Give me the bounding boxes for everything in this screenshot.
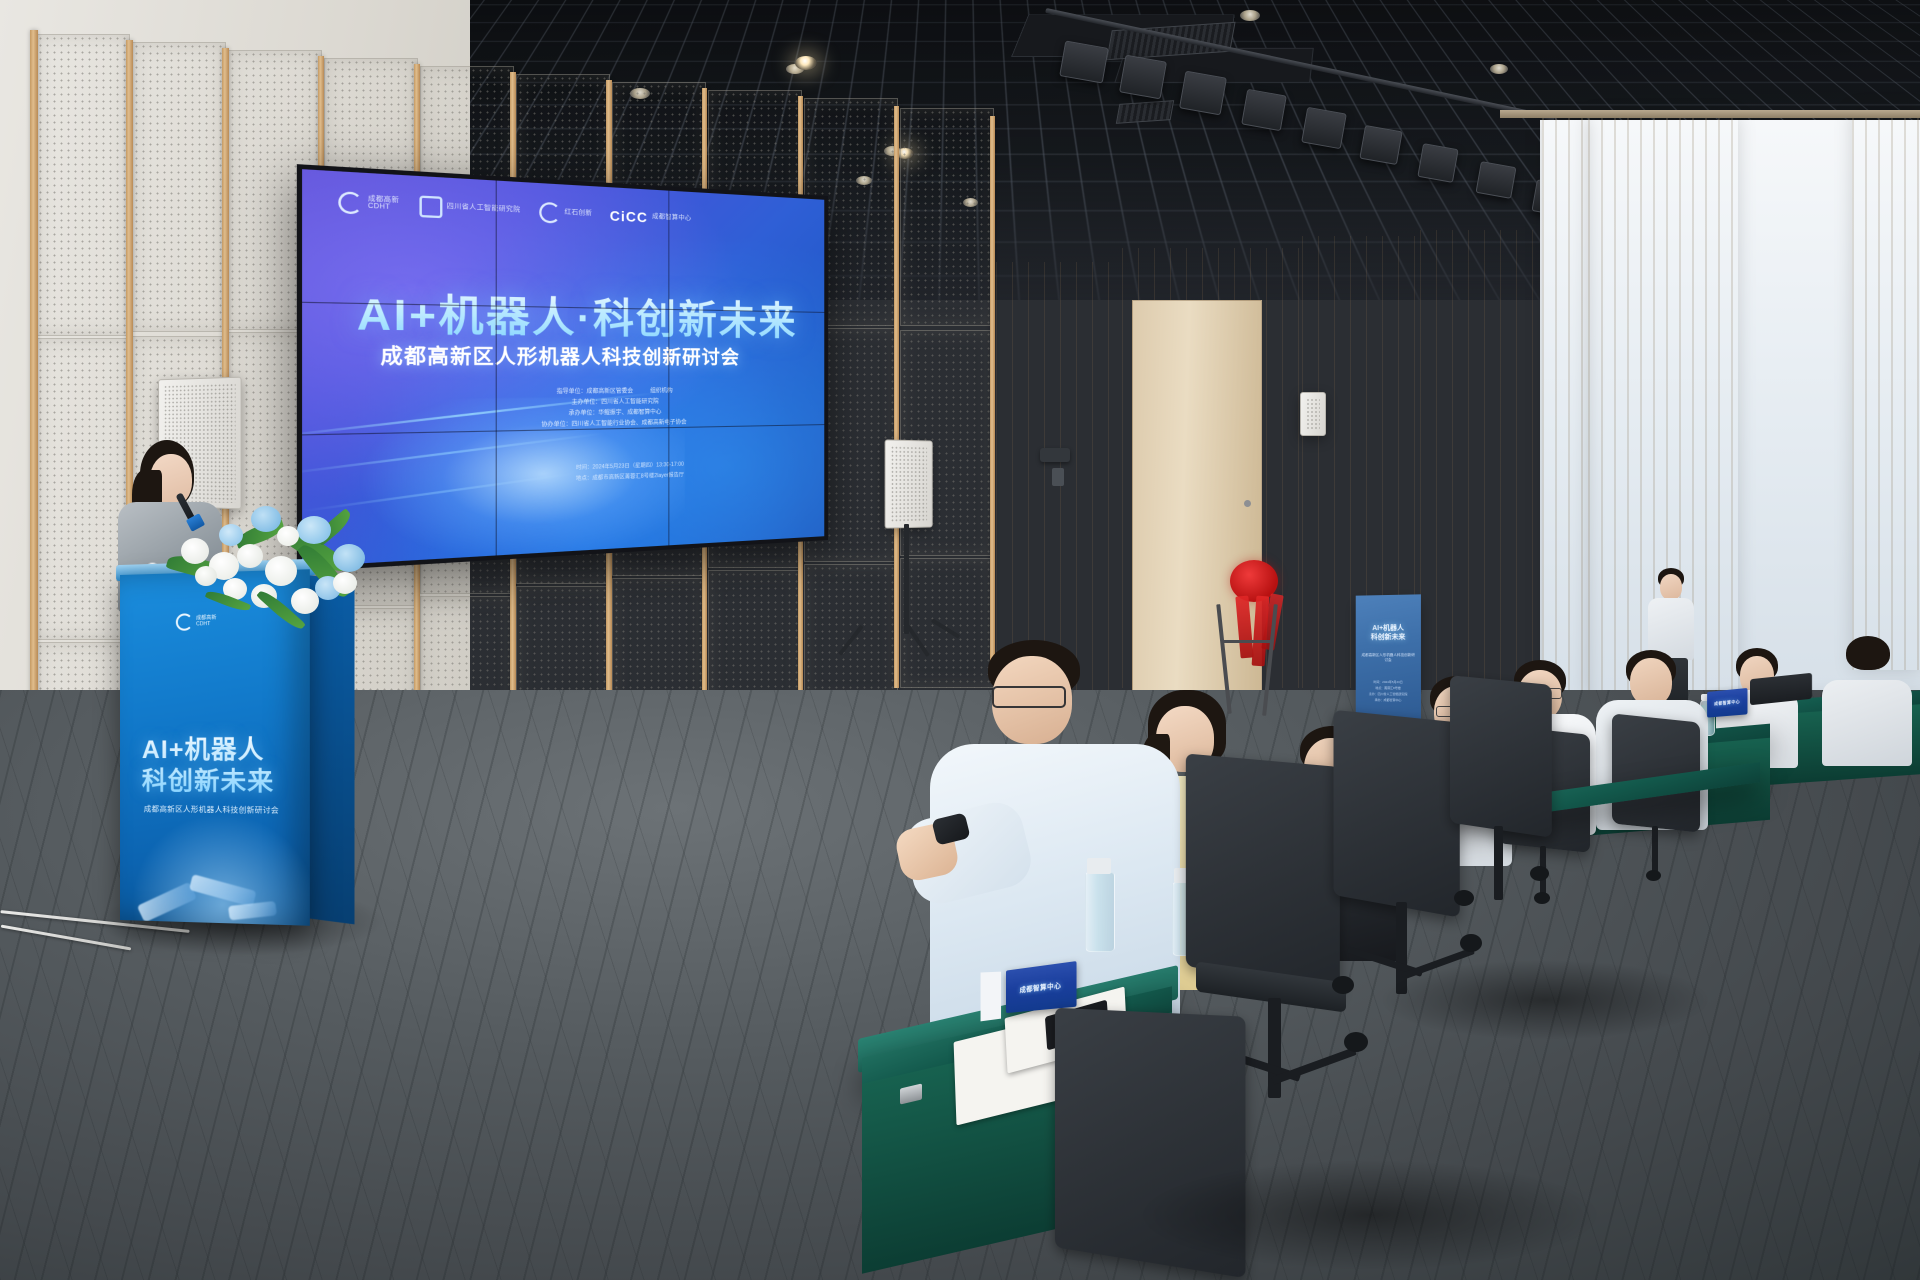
chair-front-2[interactable]	[1334, 710, 1460, 918]
spotlight-main	[795, 56, 817, 70]
wall-sensor-icon	[1052, 468, 1064, 486]
cdht-logo: 成都高新 CDHT	[339, 191, 400, 216]
podium-title-line2: 科创新未来	[142, 766, 310, 799]
ribbon-tail	[1235, 596, 1253, 659]
wall-camera	[1040, 448, 1070, 462]
flower-blue	[297, 516, 331, 544]
attendee-back-2	[1820, 636, 1915, 766]
robot-arm-shape	[228, 901, 277, 920]
partner-logo: 红石创新	[539, 202, 593, 225]
standee-caption: 成都高新区人形机器人科技创新研讨会	[1362, 653, 1415, 664]
wall-panel	[132, 42, 226, 332]
nameplate-front: 成都智算中心	[1006, 961, 1077, 1013]
speaker-grill	[891, 446, 928, 523]
chair-leg	[1494, 826, 1503, 900]
flower-white	[291, 588, 319, 614]
led-panel-seam	[669, 191, 670, 546]
stage-light-5	[1301, 107, 1347, 149]
flower-blue	[219, 524, 243, 546]
attendee-glasses-icon	[992, 686, 1066, 708]
curtain-left	[1542, 118, 1588, 718]
chair-wheel	[1530, 866, 1549, 881]
wall-accent-strip	[894, 106, 899, 688]
curtain-right	[1852, 110, 1920, 670]
podium-title-line1: AI+机器人	[142, 735, 310, 767]
flower-white	[265, 556, 297, 586]
partner-logo-text: 红石创新	[565, 210, 593, 219]
wall-panel	[804, 564, 898, 700]
stage-light-4	[1241, 89, 1287, 131]
nameplate-right: 成都智算中心	[1707, 688, 1747, 718]
robot-arm-shape	[137, 882, 197, 923]
chair-wheel	[1646, 870, 1661, 881]
conference-room-photo: 成都高新 CDHT 四川省人工智能研究院 红石创新 CiCC 成都智算中心 AI…	[0, 0, 1920, 1280]
wall-panel	[36, 34, 130, 336]
stage-light-7	[1417, 143, 1458, 183]
flower-blue	[333, 544, 365, 572]
led-guidance-label: 指导单位：成都高新区管委会	[557, 386, 634, 397]
attendee-shirt	[1822, 680, 1912, 766]
standee-title-line2: 科创新未来	[1362, 634, 1415, 643]
chair-leg	[1652, 826, 1658, 874]
stage-light-1	[1059, 40, 1109, 83]
cicc-logo: CiCC 成都智算中心	[610, 207, 692, 227]
cdht-logo-line2: CDHT	[368, 204, 390, 212]
chair-wheel	[1344, 1032, 1368, 1052]
flower-white	[277, 526, 299, 546]
flower-white	[333, 572, 357, 594]
stage-light-2	[1119, 55, 1167, 100]
pa-speaker-right	[885, 439, 933, 528]
attendee-head	[1630, 658, 1672, 706]
seating-shadow-2	[1380, 960, 1710, 1040]
podium-robot-graphic	[120, 800, 310, 926]
downlight-7	[1240, 10, 1260, 21]
standee-title: AI+机器人 科创新未来	[1362, 625, 1415, 643]
wall-accent-strip	[990, 116, 995, 682]
flower-blue	[251, 506, 281, 532]
stage-light-8	[1475, 161, 1516, 199]
chair-mid-3[interactable]	[1450, 675, 1552, 838]
nameplate-right-label: 成都智算中心	[1714, 699, 1740, 707]
led-panel-seam	[496, 181, 497, 556]
flower-white	[195, 566, 217, 586]
chair-wheel	[1332, 976, 1354, 994]
partner-mark-icon	[539, 202, 560, 224]
chair-wheel	[1454, 890, 1474, 906]
podium-title: AI+机器人 科创新未来	[142, 735, 310, 800]
chair-front-1[interactable]	[1186, 753, 1340, 995]
chair-wheel	[1460, 934, 1482, 952]
stage-light-3	[1179, 71, 1227, 116]
led-subtitle: 成都高新区人形机器人科技创新研讨会	[380, 341, 739, 371]
wall-panel	[900, 108, 994, 326]
standee-title-line1: AI+机器人	[1362, 625, 1415, 634]
wood-wall-panel	[1420, 230, 1548, 690]
chair-wheel	[1534, 892, 1550, 904]
pa-speaker-wall	[1300, 392, 1326, 436]
downlight-8	[1490, 64, 1508, 74]
cdht-mark-icon	[339, 191, 363, 214]
easel-crossbar	[1222, 640, 1272, 643]
curtain-rail	[1500, 110, 1920, 118]
robot-arm-shape	[189, 874, 257, 907]
speaker-grill	[1306, 398, 1320, 430]
scairi-mark-icon	[419, 195, 442, 218]
speaker-stand-pole	[904, 524, 909, 634]
cicc-logo-subtext: 成都智算中心	[652, 214, 691, 223]
water-bottle-front[interactable]	[1085, 872, 1115, 952]
scairi-logo: 四川省人工智能研究院	[419, 195, 521, 221]
flower-white	[237, 544, 263, 568]
door-knob-icon[interactable]	[1244, 500, 1251, 507]
nameplate-front-fold	[981, 972, 1001, 1022]
stage-light-6	[1359, 125, 1402, 165]
flower-arrangement	[165, 500, 380, 645]
seating-shadow	[1140, 1160, 1600, 1270]
led-main-title: AI+机器人·科创新未来	[357, 278, 797, 345]
flower-white	[181, 538, 209, 564]
cicc-logo-text: CiCC	[610, 207, 648, 225]
scairi-logo-text: 四川省人工智能研究院	[447, 204, 521, 215]
nameplate-front-label: 成都智算中心	[1020, 980, 1062, 995]
attendee-head	[1660, 574, 1682, 600]
ceiling-vent-2	[1116, 100, 1174, 124]
bottle-cap	[1087, 858, 1111, 874]
